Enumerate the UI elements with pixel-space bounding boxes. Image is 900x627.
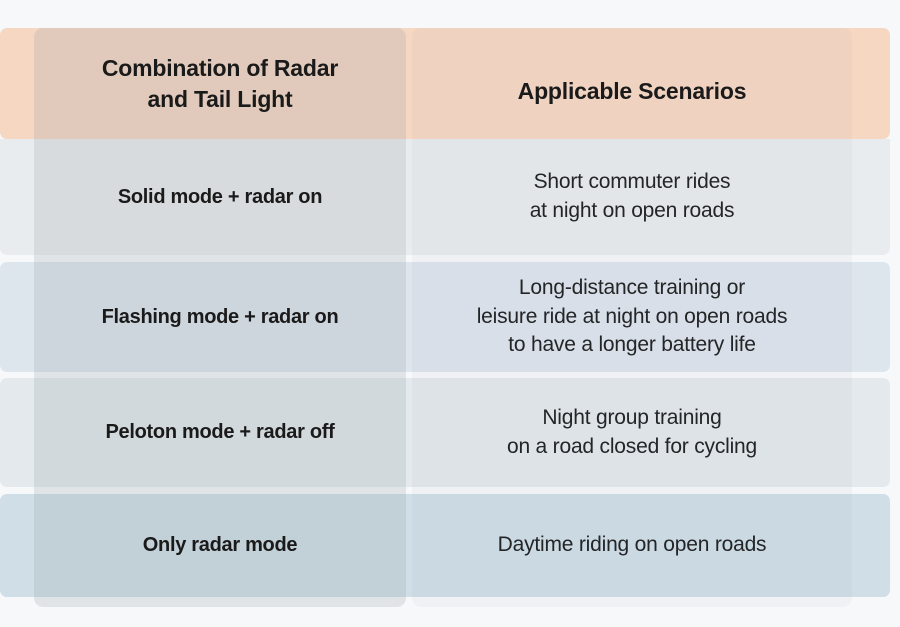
- radar-taillight-combination-table: Combination of Radar and Tail Light Appl…: [0, 0, 900, 627]
- column-header-combination: Combination of Radar and Tail Light: [34, 28, 406, 139]
- table-row: Long-distance training or leisure ride a…: [412, 262, 852, 372]
- cell-scenario-2-line-1: Long-distance training or: [477, 274, 788, 303]
- cell-combination-1: Solid mode + radar on: [118, 184, 322, 211]
- table-row: Peloton mode + radar off: [34, 378, 406, 487]
- cell-combination-2: Flashing mode + radar on: [102, 304, 339, 331]
- cell-combination-4: Only radar mode: [143, 532, 297, 559]
- cell-scenario-4-line-1: Daytime riding on open roads: [498, 531, 767, 560]
- table-text-layer: Combination of Radar and Tail Light Appl…: [0, 0, 900, 627]
- table-row: Only radar mode: [34, 494, 406, 597]
- cell-scenario-3-line-2: on a road closed for cycling: [507, 433, 757, 462]
- column-header-scenario: Applicable Scenarios: [412, 36, 852, 147]
- table-row: Night group training on a road closed fo…: [412, 378, 852, 487]
- cell-scenario-3-line-1: Night group training: [507, 404, 757, 433]
- table-row: Solid mode + radar on: [34, 139, 406, 255]
- cell-scenario-1-line-2: at night on open roads: [530, 197, 735, 226]
- column-header-combination-line-2: and Tail Light: [102, 84, 338, 114]
- table-row: Daytime riding on open roads: [412, 494, 852, 597]
- column-header-combination-line-1: Combination of Radar: [102, 53, 338, 83]
- cell-scenario-2-line-2: leisure ride at night on open roads: [477, 303, 788, 332]
- column-header-scenario-line-1: Applicable Scenarios: [518, 76, 747, 106]
- cell-combination-3: Peloton mode + radar off: [106, 419, 335, 446]
- cell-scenario-2-line-3: to have a longer battery life: [477, 331, 788, 360]
- table-row: Short commuter rides at night on open ro…: [412, 139, 852, 255]
- table-row: Flashing mode + radar on: [34, 262, 406, 372]
- cell-scenario-1-line-1: Short commuter rides: [530, 168, 735, 197]
